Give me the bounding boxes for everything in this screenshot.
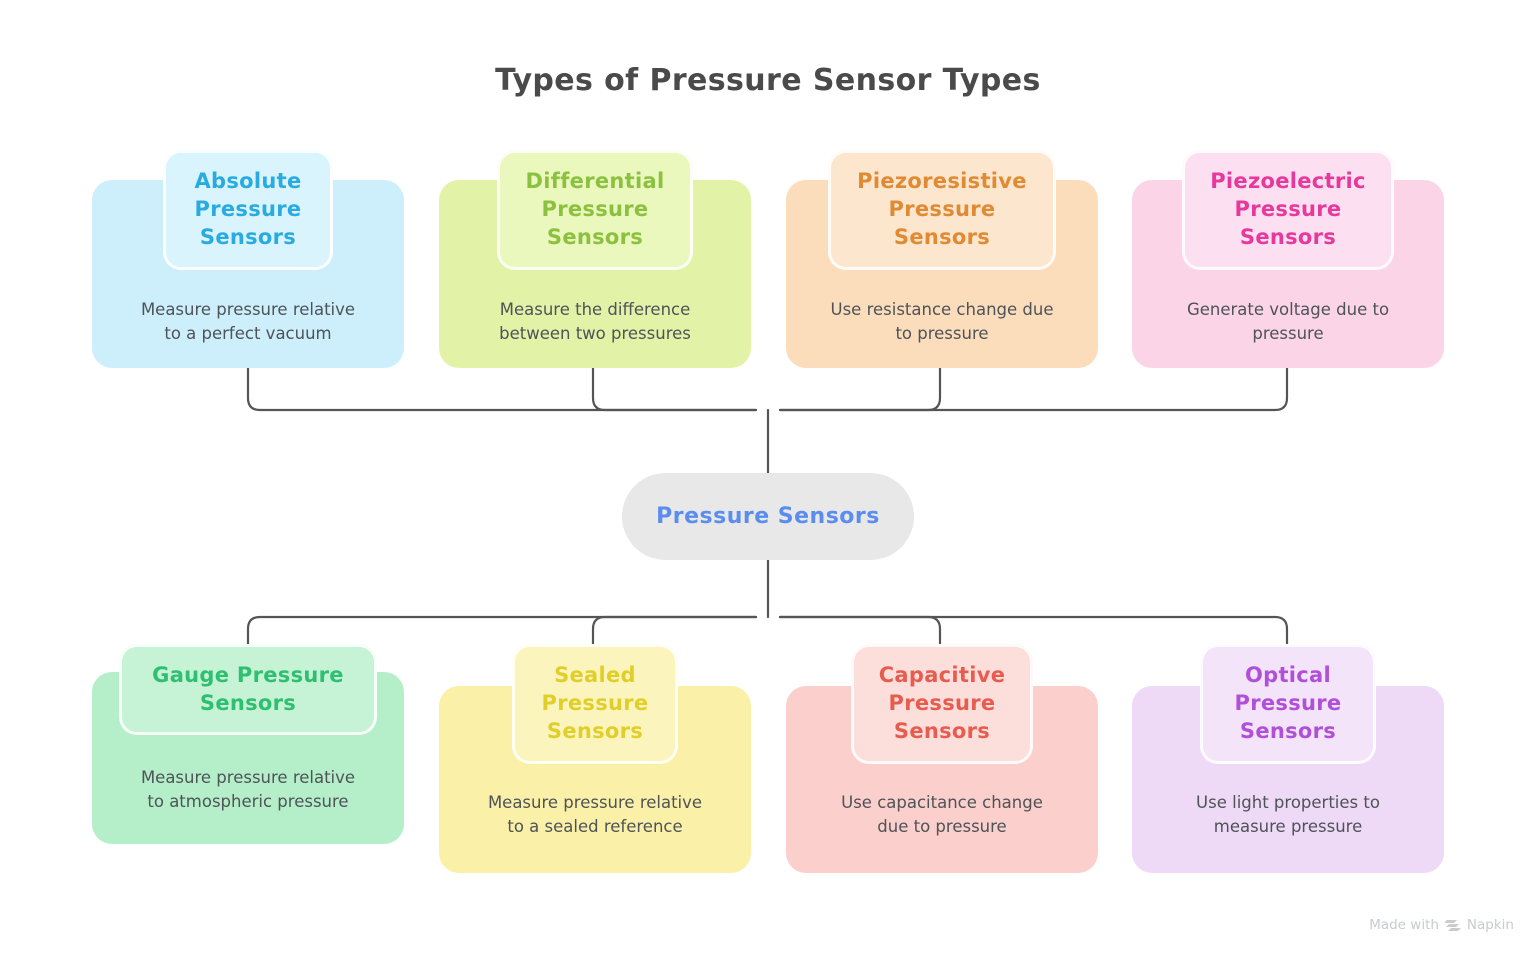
card-capacitive-pressure-sensors[interactable]: Capacitive Pressure Sensors Use capacita… — [786, 686, 1098, 873]
connector-top-branch-4 — [780, 368, 1287, 410]
footer-prefix: Made with — [1369, 917, 1439, 933]
card-badge: Capacitive Pressure Sensors — [851, 644, 1033, 764]
diagram-canvas: Types of Pressure Sensor Types Absolute … — [0, 0, 1536, 955]
card-absolute-pressure-sensors[interactable]: Absolute Pressure Sensors Measure pressu… — [92, 180, 404, 368]
card-sealed-pressure-sensors[interactable]: Sealed Pressure Sensors Measure pressure… — [439, 686, 751, 873]
card-piezoresistive-pressure-sensors[interactable]: Piezoresistive Pressure Sensors Use resi… — [786, 180, 1098, 368]
card-title: Optical Pressure Sensors — [1235, 662, 1342, 745]
card-piezoelectric-pressure-sensors[interactable]: Piezoelectric Pressure Sensors Generate … — [1132, 180, 1444, 368]
card-description: Measure pressure relative to a perfect v… — [114, 298, 382, 346]
card-badge: Differential Pressure Sensors — [497, 150, 693, 270]
footer-brand: Napkin — [1467, 917, 1514, 933]
card-title: Piezoelectric Pressure Sensors — [1210, 168, 1366, 251]
card-badge: Piezoelectric Pressure Sensors — [1182, 150, 1394, 270]
card-description: Use resistance change due to pressure — [808, 298, 1076, 346]
card-badge: Optical Pressure Sensors — [1200, 644, 1376, 764]
card-description: Use light properties to measure pressure — [1154, 791, 1422, 839]
made-with-napkin-footer[interactable]: Made with Napkin — [1369, 917, 1514, 933]
card-title: Gauge Pressure Sensors — [152, 662, 344, 717]
hub-label: Pressure Sensors — [656, 504, 880, 529]
card-badge: Gauge Pressure Sensors — [119, 644, 377, 735]
card-title: Capacitive Pressure Sensors — [879, 662, 1006, 745]
card-title: Sealed Pressure Sensors — [542, 662, 649, 745]
napkin-chevrons-icon — [1445, 918, 1461, 932]
card-description: Measure pressure relative to atmospheric… — [114, 766, 382, 814]
card-title: Differential Pressure Sensors — [526, 168, 665, 251]
card-description: Measure the difference between two press… — [461, 298, 729, 346]
card-badge: Absolute Pressure Sensors — [163, 150, 333, 270]
card-description: Use capacitance change due to pressure — [808, 791, 1076, 839]
card-gauge-pressure-sensors[interactable]: Gauge Pressure Sensors Measure pressure … — [92, 672, 404, 844]
card-title: Absolute Pressure Sensors — [194, 168, 301, 251]
card-description: Generate voltage due to pressure — [1154, 298, 1422, 346]
card-differential-pressure-sensors[interactable]: Differential Pressure Sensors Measure th… — [439, 180, 751, 368]
hub-node-pressure-sensors[interactable]: Pressure Sensors — [622, 473, 914, 560]
connector-top-branch-1 — [248, 368, 756, 410]
card-description: Measure pressure relative to a sealed re… — [461, 791, 729, 839]
card-badge: Sealed Pressure Sensors — [512, 644, 678, 764]
card-optical-pressure-sensors[interactable]: Optical Pressure Sensors Use light prope… — [1132, 686, 1444, 873]
card-title: Piezoresistive Pressure Sensors — [857, 168, 1027, 251]
connector-top-branch-3 — [780, 368, 940, 410]
connector-top-branch-2 — [593, 368, 756, 410]
card-badge: Piezoresistive Pressure Sensors — [828, 150, 1056, 270]
